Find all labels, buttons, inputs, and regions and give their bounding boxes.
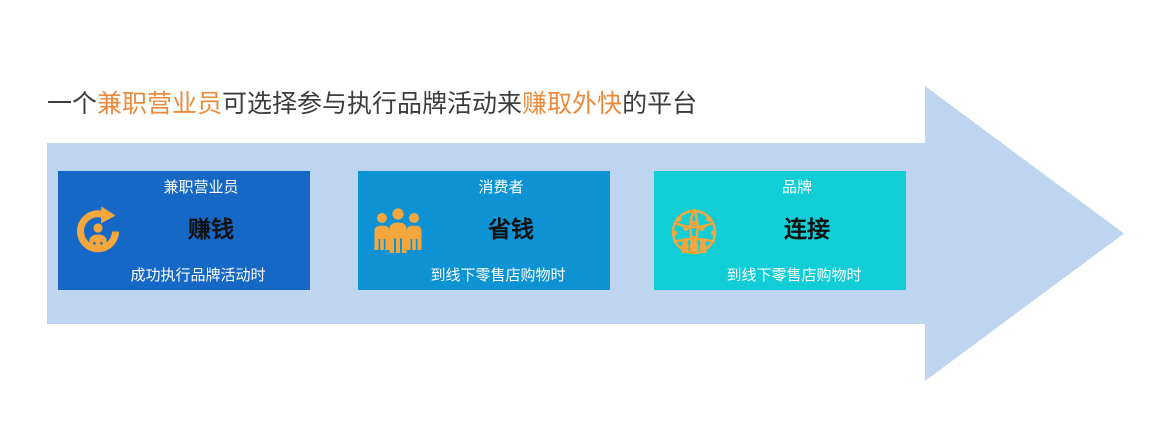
title-segment-plain-1: 一个: [47, 89, 97, 118]
page-title: 一个兼职营业员可选择参与执行品牌活动来赚取外快的平台: [47, 88, 697, 120]
card-main-text: 省钱: [358, 215, 610, 245]
card-footer: 到线下零售店购物时: [654, 265, 906, 285]
card-footer: 到线下零售店购物时: [358, 265, 610, 285]
card-footer: 成功执行品牌活动时: [58, 265, 310, 285]
card-header: 品牌: [654, 177, 906, 197]
card-header: 消费者: [358, 177, 610, 197]
title-segment-plain-2: 可选择参与执行品牌活动来: [222, 89, 522, 118]
card-part-time-clerk[interactable]: 兼职营业员 赚钱 成功执行品牌活动时: [58, 171, 310, 290]
title-segment-highlight-1: 兼职营业员: [97, 89, 222, 118]
card-main-text: 赚钱: [58, 215, 310, 245]
card-brand[interactable]: 品牌 连接 到线下零售店购物时: [654, 171, 906, 290]
title-segment-plain-3: 的平台: [622, 89, 697, 118]
title-segment-highlight-2: 赚取外快: [522, 89, 622, 118]
card-main-text: 连接: [654, 215, 906, 245]
card-header: 兼职营业员: [58, 177, 310, 197]
card-consumer[interactable]: 消费者 省钱 到线下零售店购物时: [358, 171, 610, 290]
